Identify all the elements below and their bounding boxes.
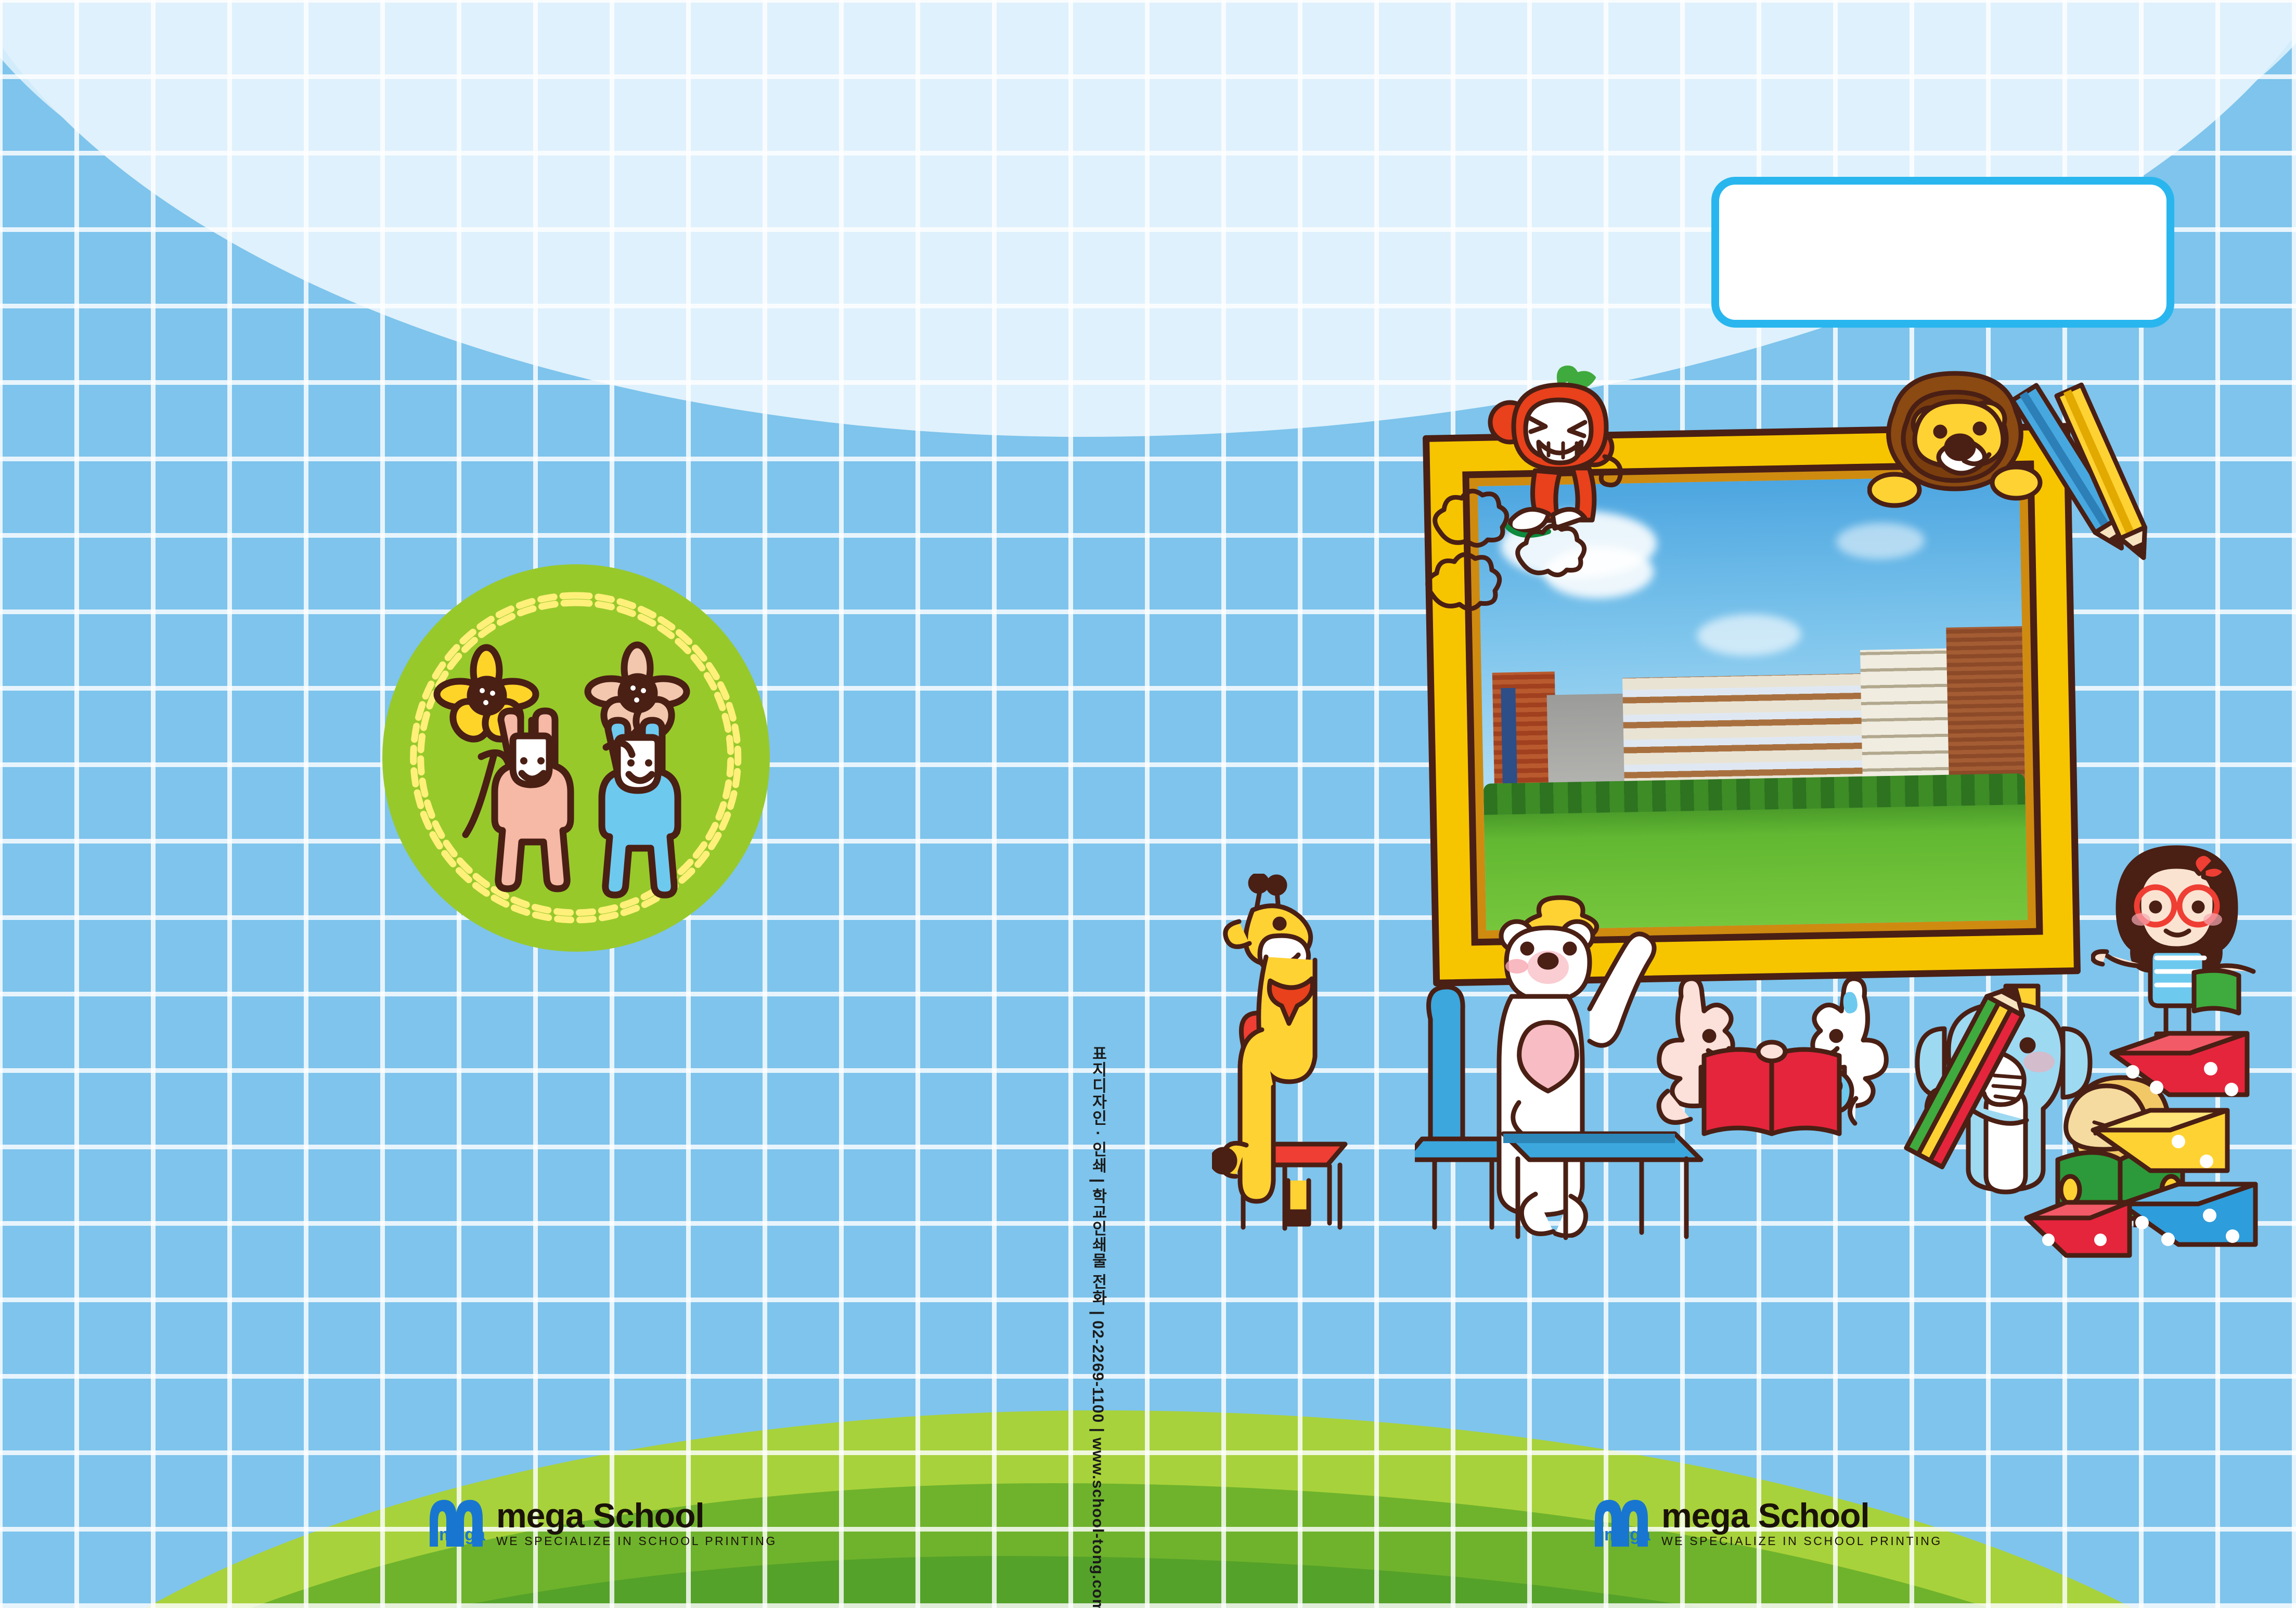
svg-text:mega: mega — [1604, 1525, 1651, 1545]
logo-title: mega School — [1661, 1498, 1942, 1533]
title-label-box[interactable] — [1711, 177, 2174, 328]
mega-logo-mark-icon: mega — [425, 1497, 487, 1549]
spine-imprint: 표지디자인 · 인쇄 | 학교인쇄물 전화 | 02-2269-1100 | w… — [1086, 1045, 1117, 1571]
logo-subtitle: WE SPECIALIZE IN SCHOOL PRINTING — [1661, 1535, 1942, 1547]
blue-and-yellow-pencils-icon — [1997, 364, 2169, 588]
logo-back-cover: mega mega School WE SPECIALIZE IN SCHOOL… — [425, 1497, 777, 1549]
two-bunnies-with-flowers-icon — [382, 564, 770, 952]
notebook-cover-page: 표지디자인 · 인쇄 | 학교인쇄물 전화 | 02-2269-1100 | w… — [0, 0, 2296, 1608]
tower-stair-column — [1501, 688, 1518, 793]
svg-text:mega: mega — [439, 1525, 486, 1545]
bunny-badge — [382, 564, 770, 952]
two-bunnies-reading-book-icon — [1654, 978, 1893, 1139]
brick-end-block — [1946, 626, 2027, 784]
logo-front-cover: mega mega School WE SPECIALIZE IN SCHOOL… — [1591, 1497, 1942, 1549]
mega-logo-mark-icon: mega — [1591, 1497, 1652, 1549]
cloud-puffs-icon — [1420, 484, 1592, 619]
spine-text: 표지디자인 · 인쇄 | 학교인쇄물 전화 | 02-2269-1100 | w… — [1086, 1045, 1109, 1608]
small-red-die-icon — [2018, 1186, 2138, 1290]
logo-title: mega School — [496, 1498, 777, 1533]
logo-subtitle: WE SPECIALIZE IN SCHOOL PRINTING — [496, 1535, 777, 1547]
